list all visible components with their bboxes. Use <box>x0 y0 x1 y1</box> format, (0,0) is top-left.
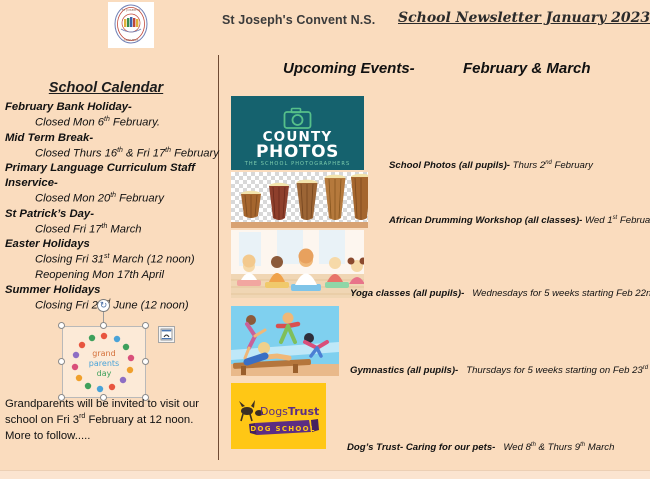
layout-options-icon[interactable] <box>158 326 175 343</box>
event-label: Gymnastics (all pupils)- <box>350 365 458 376</box>
svg-text:DogsTrust: DogsTrust <box>260 405 319 418</box>
grand-parents-day-image-selection[interactable]: ↻ <box>62 326 146 398</box>
calendar-entry-heading: Primary Language Curriculum Staff <box>5 161 208 176</box>
school-crest-icon: ST JOSEPH'S CONVENT <box>108 2 154 48</box>
svg-text:day: day <box>97 369 112 378</box>
upcoming-events-title: Upcoming Events- <box>283 60 415 77</box>
calendar-entry-heading: Inservice- <box>5 176 208 191</box>
resize-handle-nw[interactable] <box>58 322 65 329</box>
event-caption-school-photos: School Photos (all pupils)- Thurs 2nd Fe… <box>389 160 593 171</box>
newsletter-page: ST JOSEPH'S CONVENT St Joseph's Convent … <box>0 0 650 470</box>
calendar-entry-heading: Summer Holidays <box>5 283 208 298</box>
svg-text:PHOTOS: PHOTOS <box>256 142 339 162</box>
resize-handle-w[interactable] <box>58 358 65 365</box>
grandparents-note: Grandparents will be invited to visit ou… <box>5 396 210 444</box>
event-detail: Wed 8th & Thurs 9th March <box>498 442 614 453</box>
calendar-entry-line: Closed Mon 6th February. <box>5 115 208 131</box>
school-name: St Joseph's Convent N.S. <box>222 13 375 27</box>
calendar-entry-line: Closed Fri 17th March <box>5 222 208 238</box>
grand-parents-day-image[interactable]: grand parents day <box>62 326 146 398</box>
event-detail: Thurs 2nd February <box>513 160 593 171</box>
svg-text:DOG SCHOOL: DOG SCHOOL <box>250 425 315 433</box>
svg-text:parents: parents <box>89 359 119 368</box>
calendar-entry-line: Closed Mon 20th February <box>5 191 208 207</box>
resize-handle-e[interactable] <box>142 358 149 365</box>
event-detail: Thursdays for 5 weeks starting on Feb 23… <box>461 365 648 376</box>
kids-yoga-class-image <box>231 230 364 298</box>
resize-handle-n[interactable] <box>100 322 107 329</box>
resize-handle-ne[interactable] <box>142 322 149 329</box>
event-label: School Photos (all pupils)- <box>389 160 510 171</box>
event-caption-dogs-trust: Dog’s Trust- Caring for our pets- Wed 8t… <box>347 442 614 453</box>
county-photos-logo: COUNTY PHOTOS THE SCHOOL PHOTOGRAPHERS <box>231 96 364 170</box>
newsletter-title: School Newsletter January 2023 <box>398 10 650 26</box>
upcoming-events-header: Upcoming Events- February & March <box>218 60 650 84</box>
school-calendar-list: February Bank Holiday- Closed Mon 6th Fe… <box>0 100 212 314</box>
event-label: Dog’s Trust- Caring for our pets- <box>347 442 495 453</box>
school-calendar-title: School Calendar <box>0 80 212 96</box>
svg-text:CONVENT: CONVENT <box>124 38 139 42</box>
event-caption-yoga: Yoga classes (all pupils)- Wednesdays fo… <box>350 288 650 299</box>
school-calendar-section: School Calendar February Bank Holiday- C… <box>0 80 212 314</box>
event-label: African Drumming Workshop (all classes)- <box>389 215 582 226</box>
svg-text:THE SCHOOL PHOTOGRAPHERS: THE SCHOOL PHOTOGRAPHERS <box>244 161 350 167</box>
upcoming-events-months: February & March <box>463 60 591 77</box>
svg-text:grand: grand <box>92 349 115 358</box>
rotate-handle-icon[interactable]: ↻ <box>97 299 110 312</box>
calendar-entry-heading: February Bank Holiday- <box>5 100 208 115</box>
event-detail: Wed 1st February <box>585 215 650 226</box>
column-divider <box>218 55 219 460</box>
kids-gymnastics-image <box>231 306 339 376</box>
calendar-entry-heading: Easter Holidays <box>5 237 208 252</box>
dogs-trust-dog-school-logo: DogsTrust DOG SCHOOL <box>231 383 326 449</box>
calendar-entry-line: Closed Thurs 16th & Fri 17th February <box>5 146 208 162</box>
event-caption-african-drumming: African Drumming Workshop (all classes)-… <box>389 215 650 226</box>
event-caption-gymnastics: Gymnastics (all pupils)- Thursdays for 5… <box>350 365 648 376</box>
page-header: ST JOSEPH'S CONVENT St Joseph's Convent … <box>0 0 650 52</box>
calendar-entry-heading: St Patrick’s Day- <box>5 207 208 222</box>
calendar-entry-line: Closing Fri 31st March (12 noon) <box>5 252 208 268</box>
african-drums-image <box>231 172 368 228</box>
calendar-entry-heading: Mid Term Break- <box>5 131 208 146</box>
svg-text:ST JOSEPH'S: ST JOSEPH'S <box>122 8 141 12</box>
event-detail: Wednesdays for 5 weeks starting Feb 22nd <box>467 288 650 299</box>
calendar-entry-line: Reopening Mon 17th April <box>5 268 208 283</box>
event-label: Yoga classes (all pupils)- <box>350 288 464 299</box>
